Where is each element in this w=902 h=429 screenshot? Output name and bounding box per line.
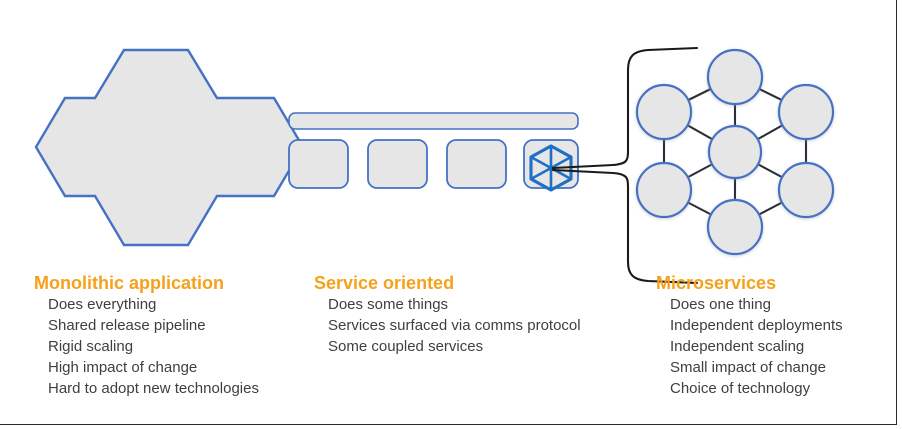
microservice-node [708, 50, 762, 104]
soa-service-box [289, 140, 348, 188]
list-item: High impact of change [34, 357, 259, 378]
list-item: Does one thing [656, 294, 843, 315]
column-microservices: Microservices Does one thing Independent… [656, 272, 843, 399]
microservice-node [637, 85, 691, 139]
list-item: Shared release pipeline [34, 315, 259, 336]
list-item: Choice of technology [656, 378, 843, 399]
microservice-node [637, 163, 691, 217]
microservice-node [779, 163, 833, 217]
microservice-node [779, 85, 833, 139]
list-item: Does some things [314, 294, 581, 315]
soa-comms-bus [289, 113, 578, 129]
soa-service-box-with-hexagon [524, 140, 578, 190]
list-item: Small impact of change [656, 357, 843, 378]
list-item: Services surfaced via comms protocol [314, 315, 581, 336]
soa-service-box [368, 140, 427, 188]
column-heading: Monolithic application [34, 272, 259, 294]
column-monolithic-application: Monolithic application Does everything S… [34, 272, 259, 399]
column-bullet-list: Does some things Services surfaced via c… [314, 294, 581, 357]
list-item: Some coupled services [314, 336, 581, 357]
column-heading: Service oriented [314, 272, 581, 294]
microservice-node [708, 200, 762, 254]
slide-canvas: Monolithic application Does everything S… [0, 0, 902, 429]
soa-service-box [447, 140, 506, 188]
list-item: Hard to adopt new technologies [34, 378, 259, 399]
list-item: Does everything [34, 294, 259, 315]
column-service-oriented: Service oriented Does some things Servic… [314, 272, 581, 357]
column-bullet-list: Does one thing Independent deployments I… [656, 294, 843, 399]
list-item: Rigid scaling [34, 336, 259, 357]
column-bullet-list: Does everything Shared release pipeline … [34, 294, 259, 399]
list-item: Independent deployments [656, 315, 843, 336]
microservice-node-center [709, 126, 761, 178]
column-heading: Microservices [656, 272, 843, 294]
monolith-blob-shape [36, 50, 303, 245]
list-item: Independent scaling [656, 336, 843, 357]
